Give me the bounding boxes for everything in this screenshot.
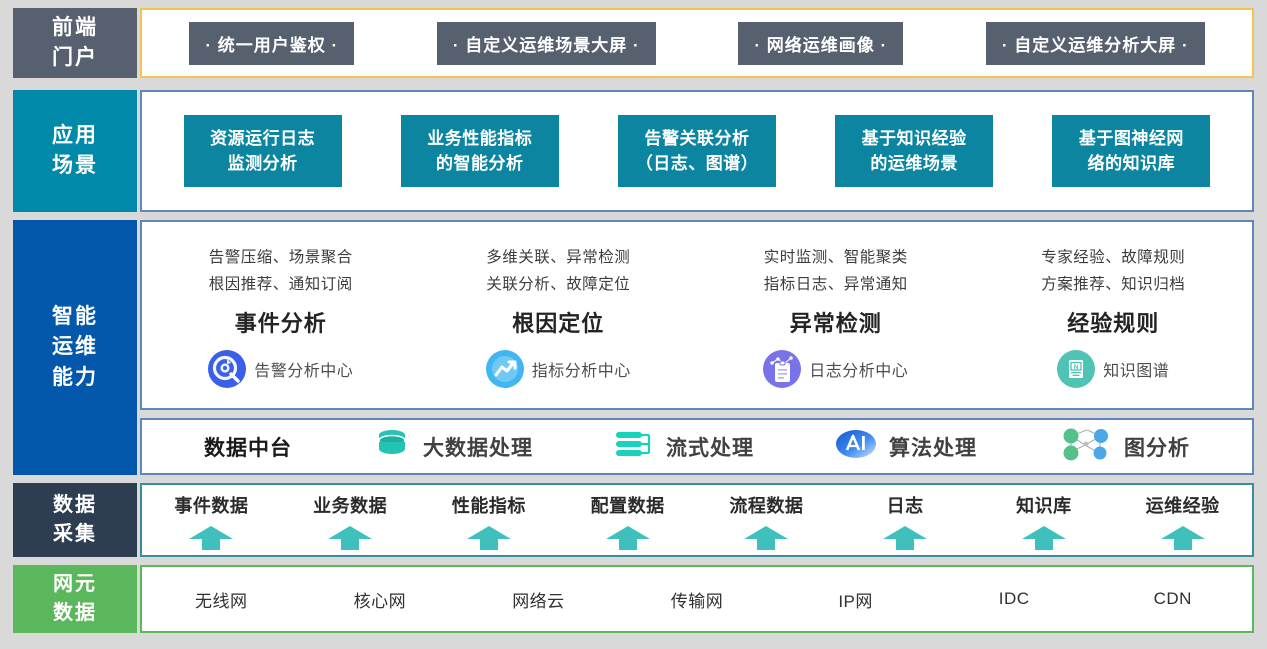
- capability-title-anomaly-detection: 异常检测: [790, 306, 882, 338]
- data-platform-label-algorithm: 算法处理: [889, 432, 977, 462]
- sidebar-line: 采集: [53, 520, 97, 549]
- sidebar-line: 应用: [52, 121, 98, 151]
- network-element-item-cdn[interactable]: CDN: [1093, 589, 1252, 609]
- arrow-up-icon: [188, 525, 234, 556]
- metric-trend-icon: [486, 350, 524, 388]
- network-element-item-wireless[interactable]: 无线网: [142, 587, 301, 612]
- capability-column-experience-rules: 专家经验、故障规则 方案推荐、知识归档 经验规则 N 知: [975, 222, 1253, 408]
- scenario-line1: 基于图神经网: [1079, 126, 1184, 152]
- collection-item-knowledge-base[interactable]: 知识库: [975, 485, 1114, 555]
- collection-item-performance-metrics[interactable]: 性能指标: [420, 485, 559, 555]
- collection-item-logs[interactable]: 日志: [836, 485, 975, 555]
- collection-label: 事件数据: [174, 492, 248, 518]
- portal-chip-network-ops-profile[interactable]: · 网络运维画像 ·: [738, 22, 903, 65]
- collection-item-config-data[interactable]: 配置数据: [558, 485, 697, 555]
- collection-item-event-data[interactable]: 事件数据: [142, 485, 281, 555]
- front-portal-panel: · 统一用户鉴权 · · 自定义运维场景大屏 · · 网络运维画像 · · 自定…: [140, 8, 1254, 78]
- collection-label: 业务数据: [313, 492, 387, 518]
- network-element-label: CDN: [1154, 589, 1192, 608]
- sidebar-label-application-scenarios: 应用 场景: [13, 90, 137, 212]
- arrow-up-icon: [1160, 525, 1206, 556]
- capability-icon-label-metric-center: 指标分析中心: [532, 357, 631, 381]
- alarm-target-icon: [208, 350, 246, 388]
- sidebar-line: 场景: [52, 151, 98, 181]
- sidebar-line: 前端: [52, 13, 98, 43]
- stream-pipes-icon: [613, 427, 655, 466]
- sidebar-label-aiops-capability: 智能 运维 能力: [13, 220, 137, 475]
- sidebar-label-network-element-data: 网元 数据: [13, 565, 137, 633]
- ai-algorithm-icon: [834, 427, 878, 466]
- scenario-box-alarm-correlation[interactable]: 告警关联分析 （日志、图谱）: [618, 115, 776, 187]
- network-element-label: IP网: [838, 592, 873, 611]
- scenario-line2: 的运维场景: [870, 151, 958, 177]
- sidebar-line: 数据: [53, 491, 97, 520]
- scenario-box-business-performance[interactable]: 业务性能指标 的智能分析: [401, 115, 559, 187]
- arrow-up-icon: [743, 525, 789, 556]
- capability-desc-line1: 专家经验、故障规则: [1041, 244, 1185, 271]
- application-scenarios-panel: 资源运行日志 监测分析 业务性能指标 的智能分析 告警关联分析 （日志、图谱） …: [140, 90, 1254, 212]
- svg-text:N: N: [1074, 364, 1079, 371]
- scenario-line1: 资源运行日志: [210, 126, 315, 152]
- data-platform-item-big-data[interactable]: 大数据处理: [372, 427, 533, 466]
- collection-label: 运维经验: [1146, 492, 1220, 518]
- portal-chip-custom-ops-dashboard[interactable]: · 自定义运维场景大屏 ·: [437, 22, 656, 65]
- data-platform-panel: 数据中台 大数据处理: [140, 418, 1254, 475]
- capability-desc-line1: 告警压缩、场景聚合: [209, 244, 353, 271]
- data-platform-item-stream[interactable]: 流式处理: [613, 427, 754, 466]
- aiops-capability-panel: 告警压缩、场景聚合 根因推荐、通知订阅 事件分析 告警: [140, 220, 1254, 410]
- scenario-line1: 告警关联分析: [644, 126, 749, 152]
- network-element-item-network-cloud[interactable]: 网络云: [459, 587, 618, 612]
- portal-chip-unified-auth[interactable]: · 统一用户鉴权 ·: [189, 22, 354, 65]
- capability-column-event-analysis: 告警压缩、场景聚合 根因推荐、通知订阅 事件分析 告警: [142, 222, 420, 408]
- data-platform-label-graph: 图分析: [1124, 432, 1190, 462]
- capability-column-root-cause: 多维关联、异常检测 关联分析、故障定位 根因定位 指标分析中心: [420, 222, 698, 408]
- collection-label: 流程数据: [729, 492, 803, 518]
- sidebar-line: 网元: [53, 570, 97, 599]
- log-clipboard-icon: [763, 350, 801, 388]
- data-platform-title: 数据中台: [204, 432, 292, 462]
- data-platform-label-stream: 流式处理: [666, 432, 754, 462]
- capability-desc-line2: 关联分析、故障定位: [486, 271, 630, 298]
- knowledge-book-icon: N: [1057, 350, 1095, 388]
- collection-label: 知识库: [1016, 492, 1072, 518]
- collection-label: 性能指标: [452, 492, 526, 518]
- arrow-up-icon: [882, 525, 928, 556]
- sidebar-line: 智能: [52, 302, 98, 332]
- network-element-item-ip-network[interactable]: IP网: [776, 587, 935, 612]
- collection-item-ops-experience[interactable]: 运维经验: [1113, 485, 1252, 555]
- capability-desc-line2: 指标日志、异常通知: [764, 271, 908, 298]
- scenario-box-graph-neural-network[interactable]: 基于图神经网 络的知识库: [1052, 115, 1210, 187]
- portal-chip-custom-analysis-dashboard[interactable]: · 自定义运维分析大屏 ·: [986, 22, 1205, 65]
- data-collection-panel: 事件数据 业务数据 性能指标 配置数据: [140, 483, 1254, 557]
- capability-icon-label-knowledge-graph: 知识图谱: [1103, 357, 1169, 381]
- capability-column-anomaly-detection: 实时监测、智能聚类 指标日志、异常通知 异常检测: [697, 222, 975, 408]
- collection-item-business-data[interactable]: 业务数据: [281, 485, 420, 555]
- scenario-line2: （日志、图谱）: [636, 151, 759, 177]
- arrow-up-icon: [605, 525, 651, 556]
- database-stack-icon: [372, 427, 412, 466]
- sidebar-line: 数据: [53, 599, 97, 628]
- collection-label: 日志: [887, 492, 924, 518]
- capability-title-event-analysis: 事件分析: [235, 306, 327, 338]
- scenario-line1: 基于知识经验: [862, 126, 967, 152]
- sidebar-line: 门户: [52, 43, 98, 73]
- network-element-item-transport[interactable]: 传输网: [618, 587, 777, 612]
- capability-title-experience-rules: 经验规则: [1067, 306, 1159, 338]
- arrow-up-icon: [1021, 525, 1067, 556]
- network-element-label: 核心网: [354, 592, 407, 611]
- arrow-up-icon: [466, 525, 512, 556]
- network-element-label: 传输网: [671, 592, 724, 611]
- collection-item-process-data[interactable]: 流程数据: [697, 485, 836, 555]
- scenario-line2: 的智能分析: [436, 151, 524, 177]
- scenario-line2: 络的知识库: [1088, 151, 1176, 177]
- network-element-item-idc[interactable]: IDC: [935, 589, 1094, 609]
- capability-icon-label-alarm-center: 告警分析中心: [254, 357, 353, 381]
- data-platform-label-big-data: 大数据处理: [423, 432, 533, 462]
- network-element-label: 无线网: [195, 592, 248, 611]
- scenario-line1: 业务性能指标: [427, 126, 532, 152]
- scenario-line2: 监测分析: [228, 151, 298, 177]
- sidebar-line: 能力: [52, 363, 98, 393]
- capability-desc-line1: 实时监测、智能聚类: [764, 244, 908, 271]
- network-element-item-core[interactable]: 核心网: [301, 587, 460, 612]
- scenario-box-resource-log[interactable]: 资源运行日志 监测分析: [184, 115, 342, 187]
- capability-desc-line1: 多维关联、异常检测: [486, 244, 630, 271]
- network-element-label: 网络云: [512, 592, 565, 611]
- capability-desc-line2: 根因推荐、通知订阅: [209, 271, 353, 298]
- data-platform-item-algorithm[interactable]: 算法处理: [834, 427, 977, 466]
- sidebar-label-data-collection: 数据 采集: [13, 483, 137, 557]
- data-platform-item-graph[interactable]: 图分析: [1057, 425, 1190, 468]
- arrow-up-icon: [327, 525, 373, 556]
- network-element-label: IDC: [999, 589, 1030, 608]
- network-element-panel: 无线网 核心网 网络云 传输网 IP网 IDC CDN: [140, 565, 1254, 633]
- capability-title-root-cause: 根因定位: [512, 306, 604, 338]
- sidebar-label-front-portal: 前端 门户: [13, 8, 137, 78]
- architecture-diagram: 前端 门户 · 统一用户鉴权 · · 自定义运维场景大屏 · · 网络运维画像 …: [0, 0, 1267, 649]
- capability-desc-line2: 方案推荐、知识归档: [1041, 271, 1185, 298]
- scenario-box-knowledge-experience[interactable]: 基于知识经验 的运维场景: [835, 115, 993, 187]
- collection-label: 配置数据: [591, 492, 665, 518]
- graph-network-icon: [1057, 425, 1113, 468]
- sidebar-line: 运维: [52, 332, 98, 362]
- capability-icon-label-log-center: 日志分析中心: [809, 357, 908, 381]
